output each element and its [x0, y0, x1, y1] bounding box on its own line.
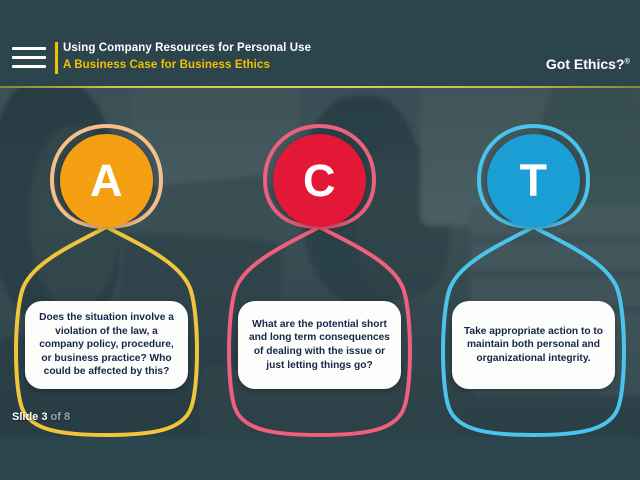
act-text-bubble-t[interactable]: Take appropriate action to to maintain b… [452, 301, 615, 389]
act-letter-a: A [90, 158, 123, 203]
act-badge-c[interactable]: C [273, 134, 366, 227]
act-text-c: What are the potential short and long te… [248, 318, 391, 372]
presentation-viewer: A Does the situation involve a violation… [0, 0, 640, 480]
brand-logo: Got Ethics?® [546, 56, 630, 72]
act-text-bubble-a[interactable]: Does the situation involve a violation o… [25, 301, 188, 389]
slide-header: Using Company Resources for Personal Use… [0, 28, 640, 86]
act-text-a: Does the situation involve a violation o… [35, 311, 178, 379]
act-column-c: C What are the potential short and long … [213, 86, 426, 437]
header-text-group: Using Company Resources for Personal Use… [63, 41, 311, 73]
accent-top-rule [0, 86, 640, 88]
course-title: Using Company Resources for Personal Use [63, 41, 311, 56]
hamburger-menu-icon[interactable] [12, 47, 46, 68]
act-text-bubble-c[interactable]: What are the potential short and long te… [238, 301, 401, 389]
act-text-t: Take appropriate action to to maintain b… [462, 325, 605, 366]
brand-name: Got Ethics? [546, 56, 625, 72]
act-badge-t[interactable]: T [487, 134, 580, 227]
slide-counter-current: Slide 3 [12, 411, 47, 423]
act-letter-c: C [303, 158, 336, 203]
slide-counter-total: of 8 [51, 411, 71, 423]
act-letter-t: T [520, 158, 548, 203]
slide-counter: Slide 3 of 8 [12, 411, 70, 423]
act-column-a: A Does the situation involve a violation… [0, 86, 213, 437]
act-badge-a[interactable]: A [60, 134, 153, 227]
course-subtitle: A Business Case for Business Ethics [63, 58, 311, 73]
hamburger-bar [12, 56, 46, 59]
slide-canvas: A Does the situation involve a violation… [0, 28, 640, 437]
act-column-t: T Take appropriate action to to maintain… [427, 86, 640, 437]
header-divider [55, 42, 58, 74]
hamburger-bar [12, 47, 46, 50]
hamburger-bar [12, 65, 46, 68]
registered-trademark-icon: ® [624, 56, 630, 65]
